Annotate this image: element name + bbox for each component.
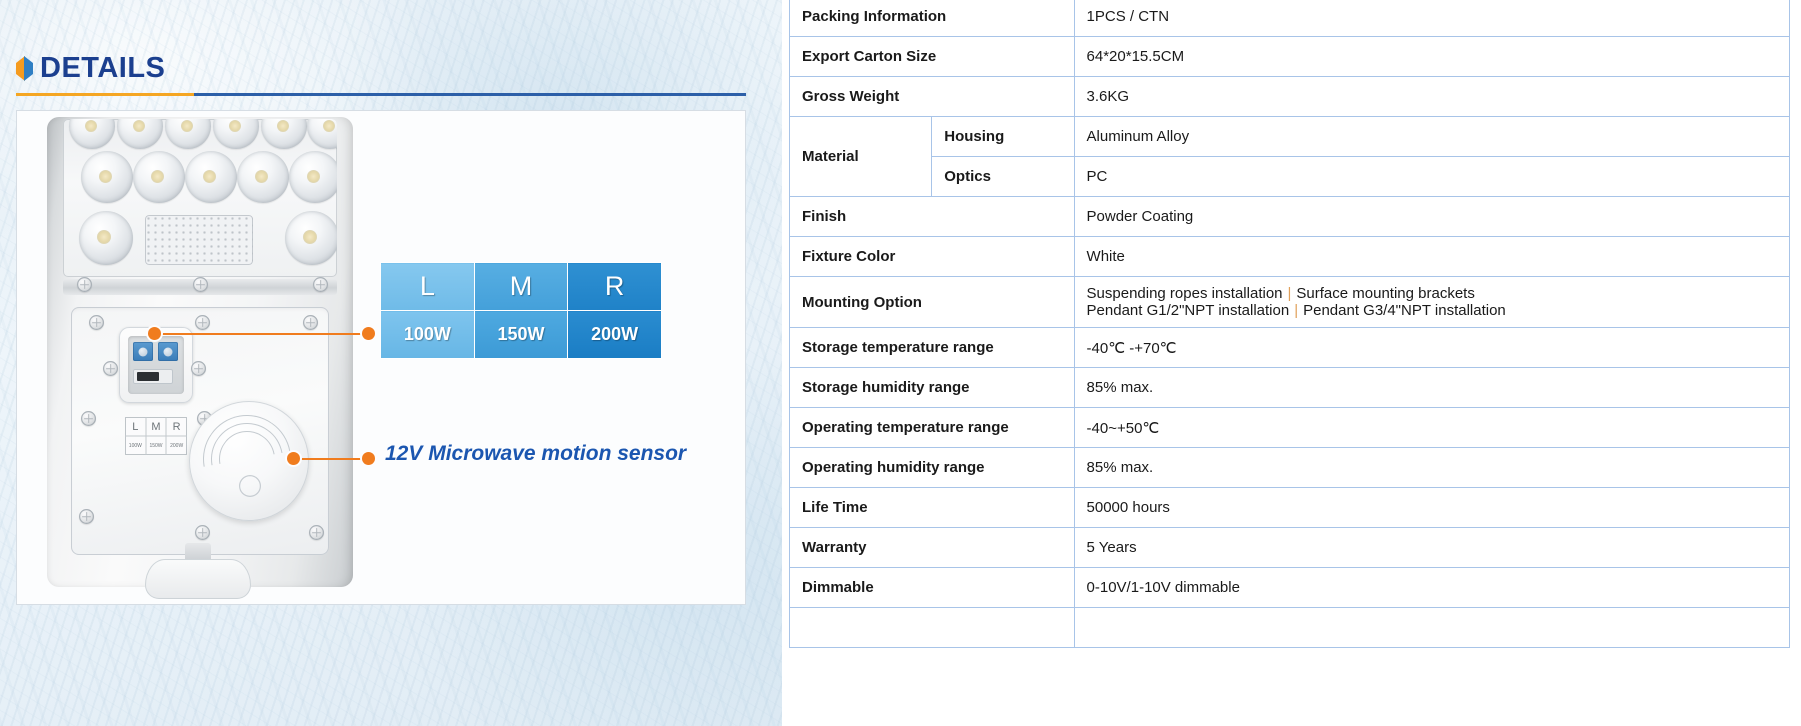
spec-value: 85% max. — [1074, 448, 1789, 488]
lmr-plate-letter: M — [146, 417, 167, 436]
table-row-partial — [790, 608, 1790, 648]
spec-label: Operating temperature range — [790, 408, 1075, 448]
table-row: Storage temperature range -40℃ -+70℃ — [790, 328, 1790, 368]
screw — [89, 315, 104, 330]
lmr-plate-watt: 100W — [125, 436, 146, 455]
terminal-block — [133, 342, 153, 361]
callout-dot-sensor-anchor — [287, 452, 300, 465]
spec-value: 0-10V/1-10V dimmable — [1074, 568, 1789, 608]
table-row: Fixture Color White — [790, 237, 1790, 277]
spec-label: Dimmable — [790, 568, 1075, 608]
lmr-plate-letter: R — [166, 417, 187, 436]
spec-sublabel-housing: Housing — [932, 117, 1074, 157]
callout-leader-line-power — [154, 333, 369, 335]
screw — [81, 411, 96, 426]
spec-label: Warranty — [790, 528, 1075, 568]
screw — [79, 509, 94, 524]
spec-label: Life Time — [790, 488, 1075, 528]
hex-pattern-area — [145, 215, 253, 265]
power-cell-m: M — [474, 263, 568, 311]
power-table-letter-row: L M R — [381, 263, 662, 311]
product-photo: L M R 100W 150W 200W — [41, 111, 359, 605]
screw — [193, 277, 208, 292]
table-row: Warranty 5 Years — [790, 528, 1790, 568]
screw — [195, 315, 210, 330]
dip-switch-recess — [128, 336, 184, 394]
screw — [309, 525, 324, 540]
mounting-line-1: Suspending ropes installation|Surface mo… — [1087, 285, 1777, 302]
screw — [313, 277, 328, 292]
spec-sublabel-optics: Optics — [932, 157, 1074, 197]
callout-label-sensor: 12V Microwave motion sensor — [385, 442, 686, 466]
callout-dot-power-label — [362, 327, 375, 340]
table-row: Dimmable 0-10V/1-10V dimmable — [790, 568, 1790, 608]
mounting-option-3: Pendant G1/2"NPT installation — [1087, 302, 1290, 319]
separator: | — [1283, 285, 1297, 302]
terminal-block — [158, 342, 178, 361]
table-row: Packing Information 1PCS / CTN — [790, 0, 1790, 37]
spec-label: Storage temperature range — [790, 328, 1075, 368]
callout-dot-power-anchor — [148, 327, 161, 340]
spec-label: Storage humidity range — [790, 368, 1075, 408]
spec-value: -40~+50℃ — [1074, 408, 1789, 448]
spec-label — [790, 608, 1075, 648]
details-panel: DETAILS — [0, 0, 782, 726]
mounting-line-2: Pendant G1/2"NPT installation|Pendant G3… — [1087, 302, 1777, 319]
dip-switch-slider — [133, 369, 173, 384]
table-row: Operating temperature range -40~+50℃ — [790, 408, 1790, 448]
specifications-table: Packing Information 1PCS / CTN Export Ca… — [789, 0, 1790, 648]
spec-value: Powder Coating — [1074, 197, 1789, 237]
lmr-plate-watt: 200W — [166, 436, 187, 455]
power-cell-l: L — [381, 263, 475, 311]
spec-label: Operating humidity range — [790, 448, 1075, 488]
heading-divider — [16, 93, 746, 96]
table-row: Life Time 50000 hours — [790, 488, 1790, 528]
spec-label: Export Carton Size — [790, 37, 1075, 77]
table-row: Gross Weight 3.6KG — [790, 77, 1790, 117]
spec-label: Mounting Option — [790, 277, 1075, 328]
mounting-option-1: Suspending ropes installation — [1087, 285, 1283, 302]
table-row: Storage humidity range 85% max. — [790, 368, 1790, 408]
spec-value: 85% max. — [1074, 368, 1789, 408]
power-watt-l: 100W — [381, 311, 475, 359]
callout-leader-line-sensor — [293, 458, 369, 460]
table-row: Optics PC — [790, 157, 1790, 197]
lmr-legend-plate: L M R 100W 150W 200W — [125, 417, 187, 455]
screw — [195, 525, 210, 540]
table-row: Material Housing Aluminum Alloy — [790, 117, 1790, 157]
power-selection-table: L M R 100W 150W 200W — [380, 262, 662, 359]
power-cell-r: R — [568, 263, 662, 311]
screw — [103, 361, 118, 376]
mounting-option-4: Pendant G3/4"NPT installation — [1303, 302, 1506, 319]
power-watt-r: 200W — [568, 311, 662, 359]
spec-label-material: Material — [790, 117, 932, 197]
page-title: DETAILS — [40, 54, 165, 83]
spec-label: Finish — [790, 197, 1075, 237]
screw — [303, 315, 318, 330]
table-row: Operating humidity range 85% max. — [790, 448, 1790, 488]
diamond-icon — [16, 56, 33, 81]
callout-dot-sensor-label — [362, 452, 375, 465]
spec-value: 64*20*15.5CM — [1074, 37, 1789, 77]
spec-value: 5 Years — [1074, 528, 1789, 568]
specifications-panel: Packing Information 1PCS / CTN Export Ca… — [789, 0, 1791, 726]
power-table-watt-row: 100W 150W 200W — [381, 311, 662, 359]
spec-value: 50000 hours — [1074, 488, 1789, 528]
lmr-plate-letter: L — [125, 417, 146, 436]
screw — [77, 277, 92, 292]
power-watt-m: 150W — [474, 311, 568, 359]
mounting-tab — [145, 559, 251, 599]
spec-value — [1074, 608, 1789, 648]
table-row: Finish Powder Coating — [790, 197, 1790, 237]
section-heading: DETAILS — [16, 54, 165, 83]
table-row-mounting: Mounting Option Suspending ropes install… — [790, 277, 1790, 328]
spec-value-mounting: Suspending ropes installation|Surface mo… — [1074, 277, 1789, 328]
spec-value: PC — [1074, 157, 1789, 197]
spec-label: Fixture Color — [790, 237, 1075, 277]
spec-value: White — [1074, 237, 1789, 277]
spec-value: 1PCS / CTN — [1074, 0, 1789, 37]
spec-label: Packing Information — [790, 0, 1075, 37]
divider-orange-segment — [16, 93, 194, 96]
divider-blue-segment — [194, 93, 746, 96]
spec-value: 3.6KG — [1074, 77, 1789, 117]
spec-value: -40℃ -+70℃ — [1074, 328, 1789, 368]
screw — [191, 361, 206, 376]
lmr-plate-watt: 150W — [146, 436, 167, 455]
spec-label: Gross Weight — [790, 77, 1075, 117]
spec-value: Aluminum Alloy — [1074, 117, 1789, 157]
separator: | — [1289, 302, 1303, 319]
mounting-option-2: Surface mounting brackets — [1296, 285, 1474, 302]
table-row: Export Carton Size 64*20*15.5CM — [790, 37, 1790, 77]
led-lens-array — [63, 119, 337, 277]
